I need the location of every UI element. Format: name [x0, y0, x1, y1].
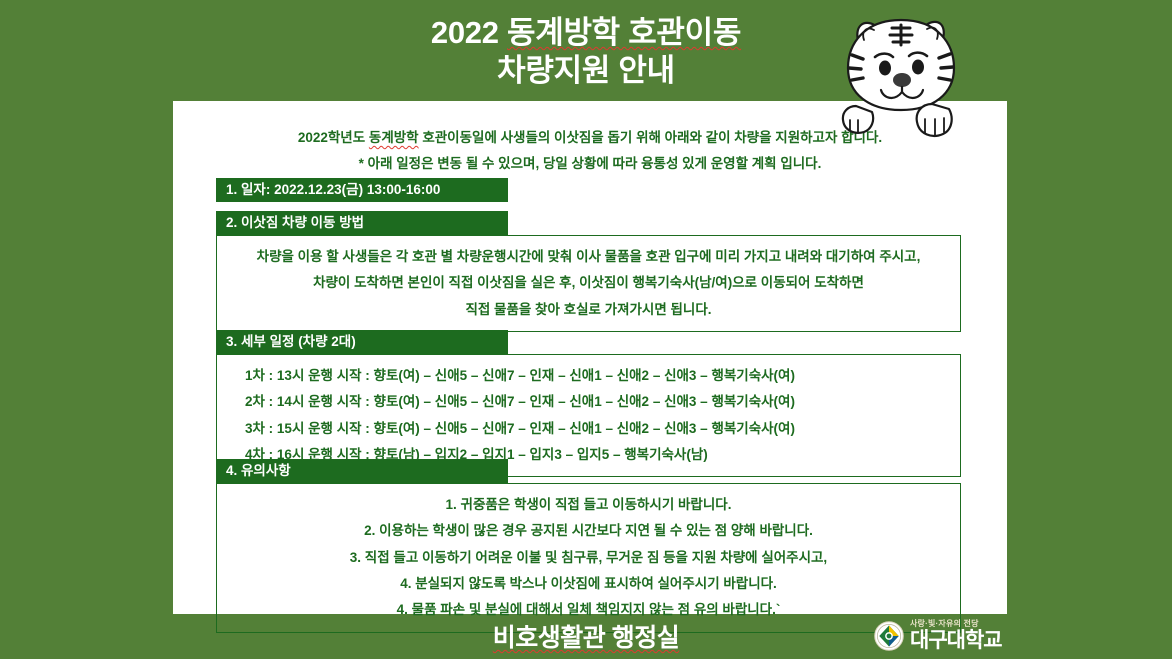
university-tagline: 사랑·빛·자유의 전당	[910, 620, 1002, 628]
section-method: 2. 이삿짐 차량 이동 방법 차량을 이용 할 사생들은 각 호관 별 차량운…	[216, 211, 961, 332]
title-line-1: 2022 동계방학 호관이동	[0, 14, 1172, 52]
section-notes-header: 4. 유의사항	[216, 459, 508, 483]
university-name: 대구대학교	[910, 630, 1002, 651]
intro-line-1-suffix: 호관이동일에 사생들의 이삿짐을 돕기 위해 아래와 같이 차량을 지원하고자 …	[419, 130, 883, 145]
intro-text: 2022학년도 동계방학 호관이동일에 사생들의 이삿짐을 돕기 위해 아래와 …	[173, 125, 1007, 176]
university-wordmark: 사랑·빛·자유의 전당 대구대학교	[910, 620, 1002, 651]
title-line-1-plain: 2022	[431, 15, 507, 50]
section-method-header: 2. 이삿짐 차량 이동 방법	[216, 211, 508, 235]
university-emblem-icon	[874, 621, 904, 651]
poster-canvas: 2022 동계방학 호관이동 차량지원 안내	[0, 0, 1172, 659]
intro-line-1-spellchecked: 동계방학	[369, 125, 419, 151]
schedule-row-3: 3차 : 15시 운행 시작 : 향토(여) – 신애5 – 신애7 – 인재 …	[245, 416, 950, 442]
section-notes: 4. 유의사항 1. 귀중품은 학생이 직접 들고 이동하시기 바랍니다. 2.…	[216, 459, 961, 633]
intro-line-1: 2022학년도 동계방학 호관이동일에 사생들의 이삿짐을 돕기 위해 아래와 …	[173, 125, 1007, 151]
note-item-4: 4. 분실되지 않도록 박스나 이삿짐에 표시하여 실어주시기 바랍니다.	[227, 571, 950, 597]
page-title: 2022 동계방학 호관이동 차량지원 안내	[0, 14, 1172, 90]
note-item-1: 1. 귀중품은 학생이 직접 들고 이동하시기 바랍니다.	[227, 492, 950, 518]
section-method-line-3: 직접 물품을 찾아 호실로 가져가시면 됩니다.	[227, 297, 950, 323]
university-logo: 사랑·빛·자유의 전당 대구대학교	[874, 620, 1002, 651]
section-schedule: 3. 세부 일정 (차량 2대) 1차 : 13시 운행 시작 : 향토(여) …	[216, 330, 961, 477]
section-method-line-1: 차량을 이용 할 사생들은 각 호관 별 차량운행시간에 맞춰 이사 물품을 호…	[227, 244, 950, 270]
section-schedule-header: 3. 세부 일정 (차량 2대)	[216, 330, 508, 354]
content-panel: 2022학년도 동계방학 호관이동일에 사생들의 이삿짐을 돕기 위해 아래와 …	[173, 101, 1007, 614]
section-method-line-2: 차량이 도착하면 본인이 직접 이삿짐을 실은 후, 이삿짐이 행복기숙사(남/…	[227, 270, 950, 296]
footer-office-label: 비호생활관 행정실	[493, 618, 679, 654]
schedule-row-1: 1차 : 13시 운행 시작 : 향토(여) – 신애5 – 신애7 – 인재 …	[245, 363, 950, 389]
title-line-2: 차량지원 안내	[0, 52, 1172, 90]
section-date-header: 1. 일자: 2022.12.23(금) 13:00-16:00	[216, 178, 508, 202]
note-item-3: 3. 직접 들고 이동하기 어려운 이불 및 침구류, 무거운 짐 등을 지원 …	[227, 545, 950, 571]
section-method-body: 차량을 이용 할 사생들은 각 호관 별 차량운행시간에 맞춰 이사 물품을 호…	[216, 235, 961, 332]
section-notes-body: 1. 귀중품은 학생이 직접 들고 이동하시기 바랍니다. 2. 이용하는 학생…	[216, 483, 961, 633]
schedule-row-2: 2차 : 14시 운행 시작 : 향토(여) – 신애5 – 신애7 – 인재 …	[245, 389, 950, 415]
intro-line-2: * 아래 일정은 변동 될 수 있으며, 당일 상황에 따라 융통성 있게 운영…	[173, 151, 1007, 177]
section-date: 1. 일자: 2022.12.23(금) 13:00-16:00	[216, 178, 961, 202]
note-item-2: 2. 이용하는 학생이 많은 경우 공지된 시간보다 지연 될 수 있는 점 양…	[227, 518, 950, 544]
title-line-1-spellchecked: 동계방학 호관이동	[507, 14, 741, 52]
intro-line-1-prefix: 2022학년도	[298, 130, 369, 145]
